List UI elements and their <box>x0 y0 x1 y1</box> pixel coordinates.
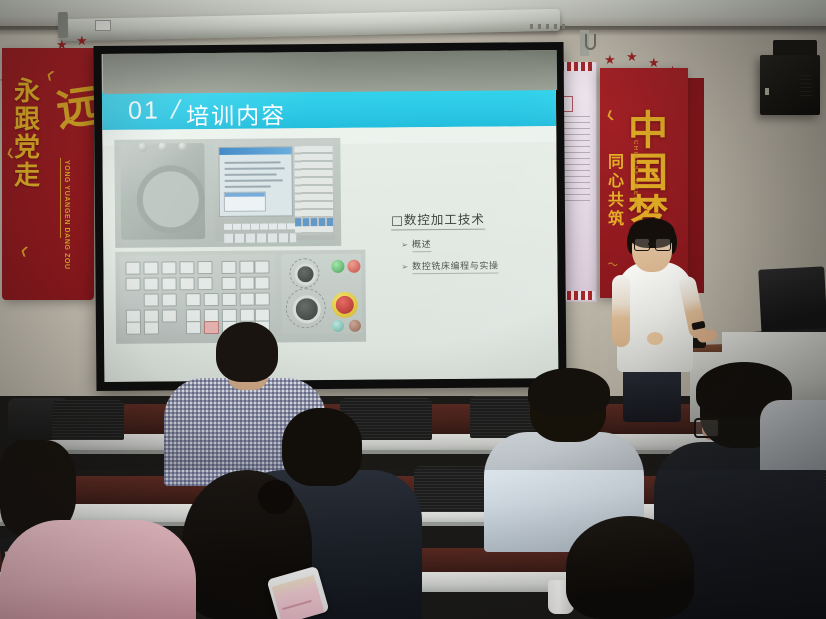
audience-ponytail-tie <box>258 480 294 514</box>
audience-member-pink-top <box>0 520 196 619</box>
audience-member-front-center-head <box>566 516 694 619</box>
wall-vignette <box>0 0 826 470</box>
screenshot-root: ★ ★ ★ ★ ★ ★ ★ ★ ★ ★ ❮ ❮ ❮ 永 跟 党 走 远 YONG… <box>0 0 826 619</box>
